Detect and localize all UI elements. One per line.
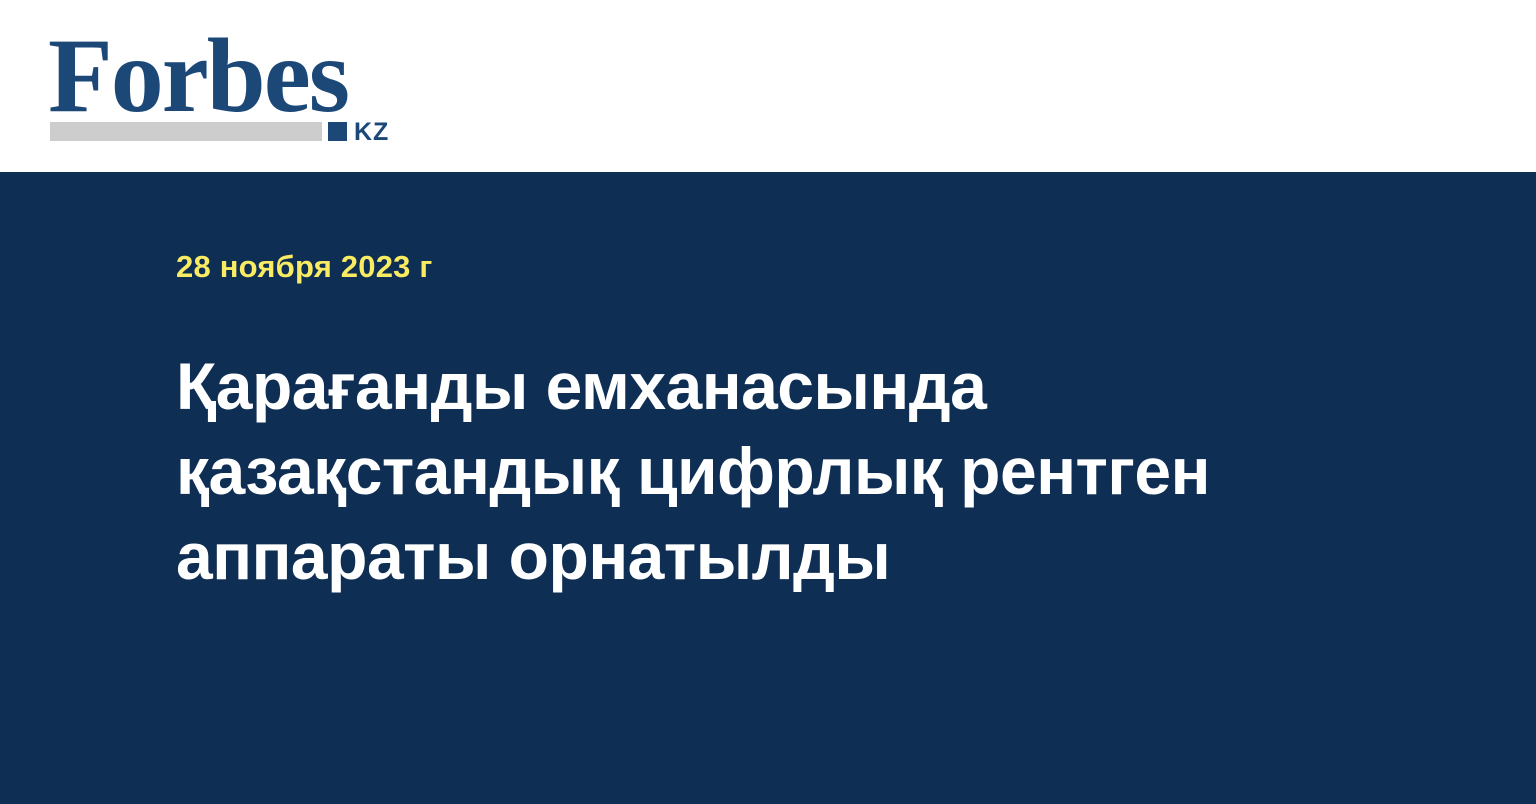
article-hero: 28 ноября 2023 г Қарағанды емханасында қ… — [0, 172, 1536, 804]
article-date: 28 ноября 2023 г — [176, 250, 433, 284]
article-hero-card: Forbes KZ 28 ноября 2023 г Қарағанды емх… — [0, 0, 1536, 804]
logo-square-icon — [328, 122, 347, 141]
article-title: Қарағанды емханасында қазақстандық цифрл… — [176, 344, 1366, 599]
logo-kz-label: KZ — [354, 120, 389, 145]
forbes-wordmark: Forbes — [48, 24, 348, 128]
site-header: Forbes KZ — [0, 0, 1536, 172]
forbes-kz-logo[interactable]: Forbes KZ — [48, 24, 408, 146]
logo-rule — [50, 122, 322, 141]
